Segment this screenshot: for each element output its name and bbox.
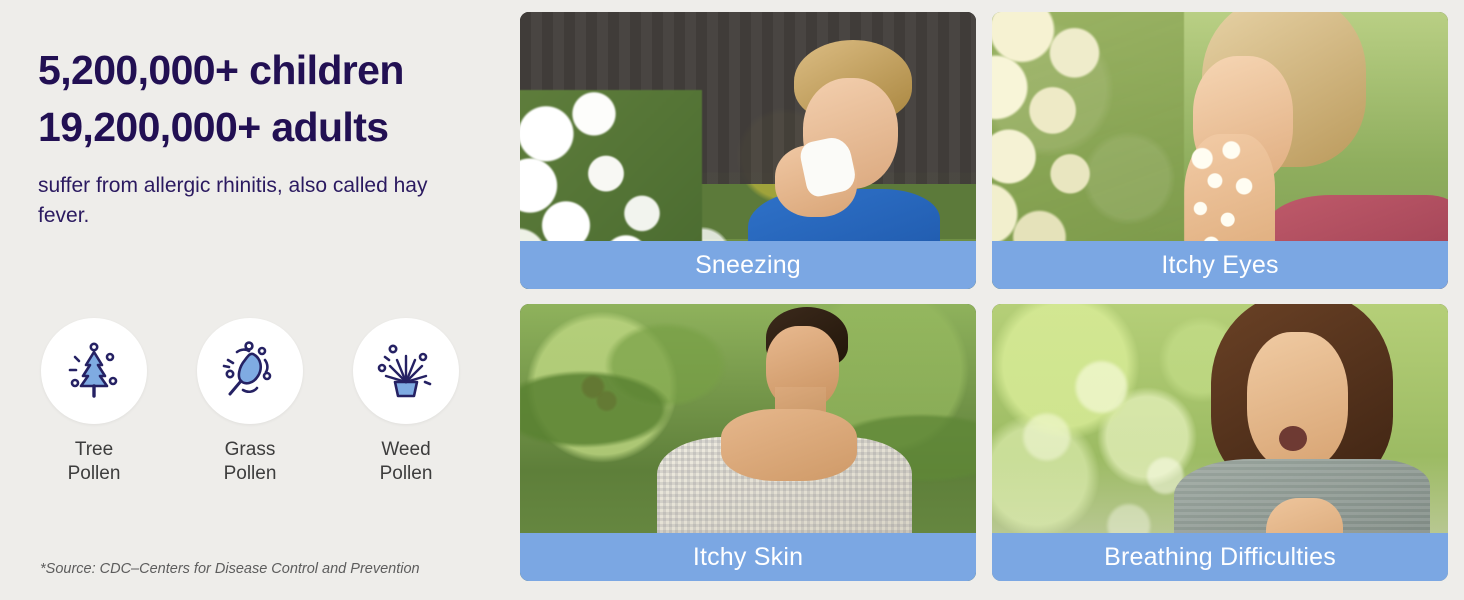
pollen-item-grass: Grass Pollen xyxy=(194,318,306,487)
pollen-types-row: Tree Pollen Grass Pollen xyxy=(38,318,462,487)
caption-breathing-difficulties: Breathing Difficulties xyxy=(992,533,1448,581)
headline-description: suffer from allergic rhinitis, also call… xyxy=(38,171,468,231)
pollen-item-weed: Weed Pollen xyxy=(350,318,462,487)
pollen-label-weed: Weed Pollen xyxy=(350,438,462,487)
symptom-card-sneezing[interactable]: Sneezing xyxy=(520,12,976,289)
grass-seedhead-icon xyxy=(197,318,303,424)
source-note: *Source: CDC–Centers for Disease Control… xyxy=(40,561,420,577)
caption-itchy-skin: Itchy Skin xyxy=(520,533,976,581)
caption-itchy-eyes: Itchy Eyes xyxy=(992,241,1448,289)
headline-children: 5,200,000+ children xyxy=(38,42,520,99)
potted-weed-icon xyxy=(353,318,459,424)
caption-sneezing: Sneezing xyxy=(520,241,976,289)
pine-tree-icon xyxy=(41,318,147,424)
photo-open-mouth xyxy=(1279,426,1306,451)
pollen-label-grass: Grass Pollen xyxy=(194,438,306,487)
symptom-card-grid: Sneezing Itchy Eyes Itchy Skin xyxy=(520,12,1464,581)
pollen-item-tree: Tree Pollen xyxy=(38,318,150,487)
stats-panel: 5,200,000+ children 19,200,000+ adults s… xyxy=(0,0,520,600)
symptom-card-breathing-difficulties[interactable]: Breathing Difficulties xyxy=(992,304,1448,581)
pollen-label-tree: Tree Pollen xyxy=(38,438,150,487)
photo-arms xyxy=(721,409,858,481)
symptom-card-itchy-eyes[interactable]: Itchy Eyes xyxy=(992,12,1448,289)
headline-adults: 19,200,000+ adults xyxy=(38,99,520,156)
symptom-card-itchy-skin[interactable]: Itchy Skin xyxy=(520,304,976,581)
